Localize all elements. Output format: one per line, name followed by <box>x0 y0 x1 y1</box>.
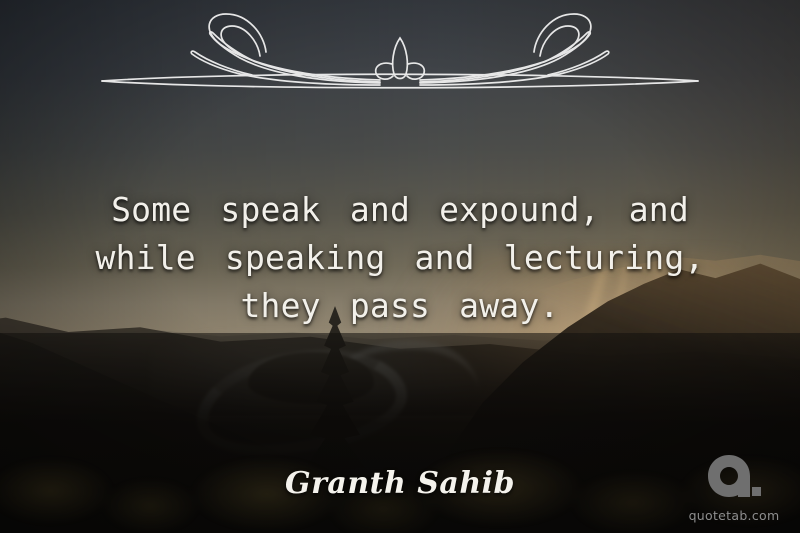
quote-line: they pass away. <box>0 282 800 330</box>
quote-image-card: Some speak and expound, and while speaki… <box>0 0 800 533</box>
ornament-divider <box>80 4 720 100</box>
flourish-divider-icon <box>80 4 720 100</box>
watermark-site-label: quotetab.com <box>689 508 780 523</box>
watermark[interactable]: quotetab.com <box>682 453 786 523</box>
quote-line: while speaking and lecturing, <box>0 234 800 282</box>
quote-author: Granth Sahib <box>0 466 800 501</box>
quote-line: Some speak and expound, and <box>0 186 800 234</box>
quotetab-q-logo-icon <box>706 453 762 505</box>
quote-text-block: Some speak and expound, and while speaki… <box>0 186 800 330</box>
foreground-foliage-canopy <box>0 383 800 533</box>
